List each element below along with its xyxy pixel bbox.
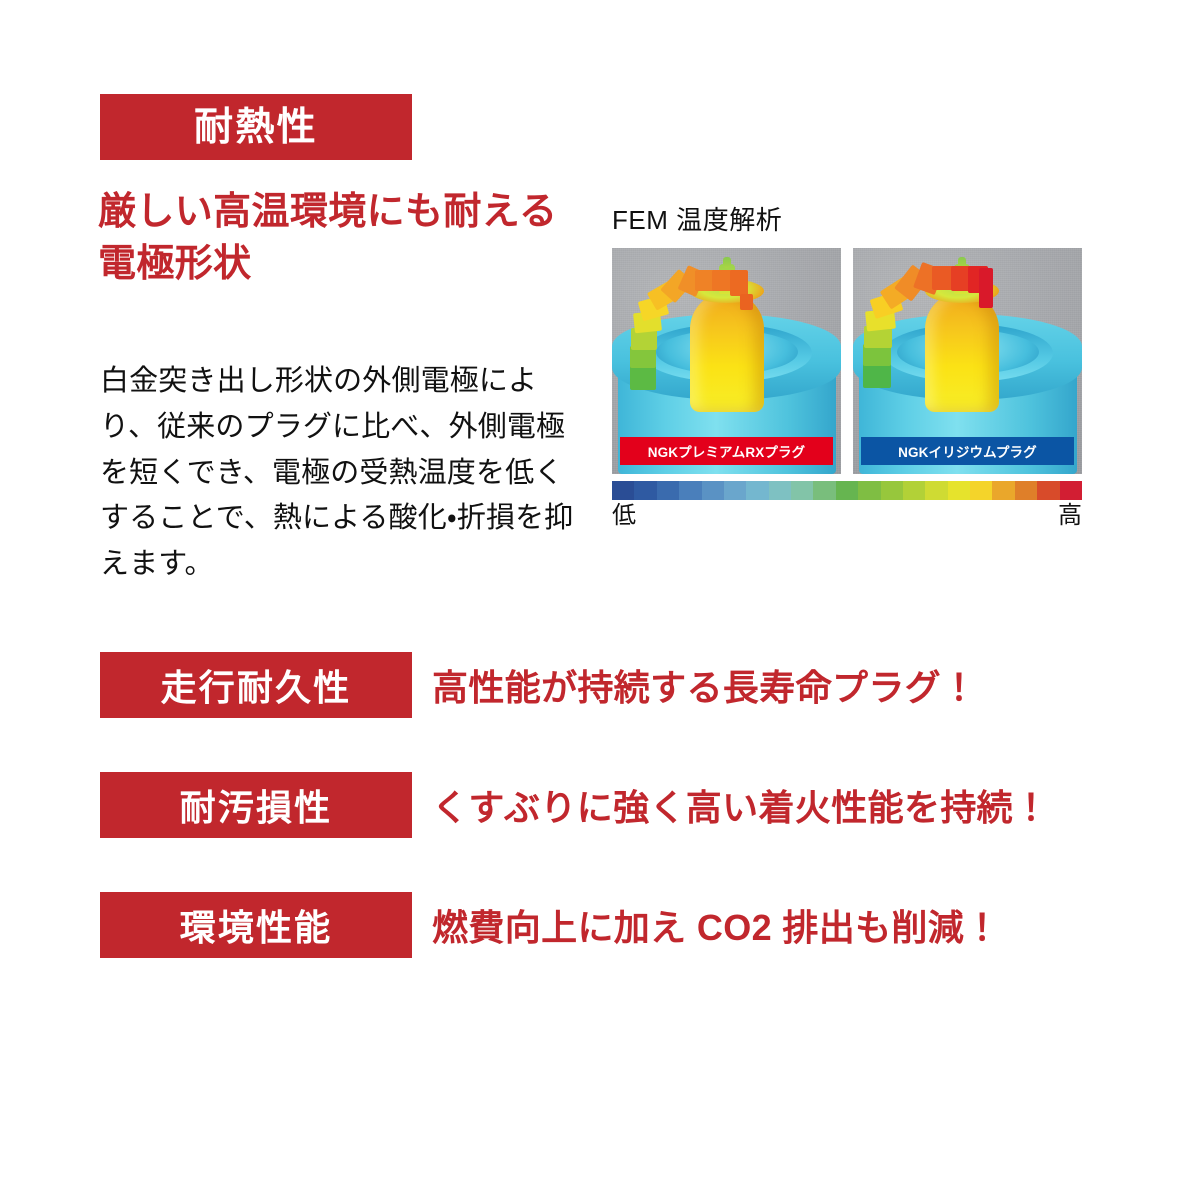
scale-swatch [679, 481, 701, 500]
feature-row-fouling-resistance: 耐汚損性 くすぶりに強く高い着火性能を持続！ [100, 772, 1060, 838]
scale-high-label: 高 [1058, 503, 1082, 529]
scale-swatch [925, 481, 947, 500]
feature-row-environmental: 環境性能 燃費向上に加え CO2 排出も削減！ [100, 892, 1060, 958]
body-paragraph: 白金突き出し形状の外側電極により、従来のプラグに比べ、外側電極を短くでき、電極の… [100, 359, 586, 588]
scale-swatch [836, 481, 858, 500]
fem-caption-label: NGKイリジウムプラグ [898, 441, 1037, 461]
fem-caption-premium-rx: NGKプレミアムRXプラグ [620, 437, 833, 465]
scale-swatch [702, 481, 724, 500]
scale-swatch [724, 481, 746, 500]
scale-swatch [903, 481, 925, 500]
fem-panel-premium-rx: NGKプレミアムRXプラグ [612, 248, 841, 474]
scale-swatch [948, 481, 970, 500]
feature-row-durability: 走行耐久性 高性能が持続する長寿命プラグ！ [100, 652, 1060, 718]
scale-swatch [657, 481, 679, 500]
feature-description: 高性能が持続する長寿命プラグ！ [432, 659, 977, 711]
scale-swatch [791, 481, 813, 500]
feature-badge: 環境性能 [100, 892, 412, 958]
fem-panel-iridium: NGKイリジウムプラグ [853, 248, 1082, 474]
feature-badge-label: 走行耐久性 [161, 659, 352, 711]
feature-badge: 耐汚損性 [100, 772, 412, 838]
scale-swatch [858, 481, 880, 500]
fem-caption-label: NGKプレミアムRXプラグ [648, 441, 806, 461]
scale-swatch [612, 481, 634, 500]
temperature-scale: 低 高 [612, 481, 1082, 529]
plug-center-electrode-tip [723, 257, 731, 268]
scale-low-label: 低 [612, 503, 636, 529]
section-badge-heat-resistance: 耐熱性 [100, 94, 412, 160]
scale-swatch [1060, 481, 1082, 500]
plug-ground-electrode-long [861, 262, 989, 394]
feature-badge-label: 耐汚損性 [180, 779, 333, 831]
scale-swatch [970, 481, 992, 500]
section-badge-label: 耐熱性 [194, 108, 318, 147]
scale-swatch [1037, 481, 1059, 500]
page-headline: 厳しい高温環境にも耐える電極形状 [98, 186, 598, 291]
scale-swatch [634, 481, 656, 500]
feature-badge: 走行耐久性 [100, 652, 412, 718]
scale-swatch [992, 481, 1014, 500]
feature-badge-label: 環境性能 [180, 899, 333, 951]
scale-swatch [1015, 481, 1037, 500]
scale-swatch [746, 481, 768, 500]
scale-swatch [881, 481, 903, 500]
temperature-scale-labels: 低 高 [612, 503, 1082, 529]
temperature-scale-bar [612, 481, 1082, 500]
fem-caption-iridium: NGKイリジウムプラグ [861, 437, 1074, 465]
feature-description: くすぶりに強く高い着火性能を持続！ [432, 779, 1049, 831]
feature-description: 燃費向上に加え CO2 排出も削減！ [432, 899, 1001, 951]
fem-analysis-block: FEM 温度解析 [612, 200, 1082, 474]
scale-swatch [813, 481, 835, 500]
fem-panel-row: NGKプレミアムRXプラグ [612, 248, 1082, 474]
scale-swatch [769, 481, 791, 500]
fem-title: FEM 温度解析 [612, 200, 1082, 237]
plug-ground-electrode-short [628, 268, 756, 400]
